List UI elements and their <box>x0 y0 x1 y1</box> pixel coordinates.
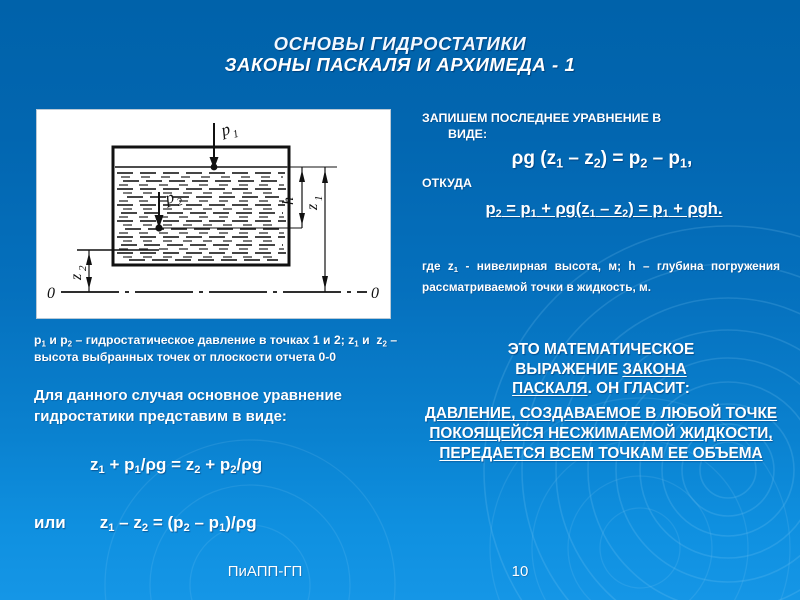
conclusion-law-word: ЗАКОНА <box>622 361 686 378</box>
conclusion-line-3-plain: . ОН ГЛАСИТ: <box>588 380 690 397</box>
slide-canvas: ОСНОВЫ ГИДРОСТАТИКИ ЗАКОНЫ ПАСКАЛЯ И АРХ… <box>0 0 800 600</box>
formula-prefix-ili: или <box>34 513 66 532</box>
right-where-note: где z1 - нивелирная высота, м; h – глуби… <box>422 256 780 297</box>
conclusion-line-1: ЭТО МАТЕМАТИЧЕСКОЕ <box>508 341 695 358</box>
formula-height-difference: илиz1 – z2 = (p2 – p1)/ρg <box>34 513 257 534</box>
formula-bernoulli-form: z1 + p1/ρg = z2 + p2/ρg <box>90 455 262 476</box>
svg-text:z: z <box>304 203 321 211</box>
slide-title: ОСНОВЫ ГИДРОСТАТИКИ ЗАКОНЫ ПАСКАЛЯ И АРХ… <box>0 34 800 75</box>
formula-rho-g-delta-z: ρg (z1 – z2) = p2 – p1, <box>422 148 782 171</box>
pascal-law-statement: ДАВЛЕНИЕ, СОЗДАВАЕМОЕ В ЛЮБОЙ ТОЧКЕ ПОКО… <box>420 404 782 464</box>
right-intro-line-2: ВИДЕ: <box>448 127 487 141</box>
conclusion-pascal-word: ПАСКАЛЯ <box>512 380 587 397</box>
title-line-1: ОСНОВЫ ГИДРОСТАТИКИ <box>0 34 800 55</box>
svg-text:z: z <box>68 273 85 281</box>
svg-text:0: 0 <box>371 285 379 302</box>
left-note-definitions: p1 и p2 – гидростатическое давление в то… <box>34 333 404 365</box>
conclusion-line-2-plain: ВЫРАЖЕНИЕ <box>515 361 622 378</box>
label-otkuda: ОТКУДА <box>422 176 472 190</box>
hydrostatics-vessel-diagram: p 1 p 2 h <box>37 110 390 318</box>
footer-page-number: 10 <box>460 563 580 580</box>
conclusion-heading: ЭТО МАТЕМАТИЧЕСКОЕ ВЫРАЖЕНИЕ ЗАКОНА ПАСК… <box>420 340 782 399</box>
left-body-text: Для данного случая основное уравнение ги… <box>34 385 414 428</box>
right-intro-text: ЗАПИШЕМ ПОСЛЕДНЕЕ УРАВНЕНИЕ В ВИДЕ: <box>422 110 778 143</box>
right-intro-line-1: ЗАПИШЕМ ПОСЛЕДНЕЕ УРАВНЕНИЕ В <box>422 111 661 125</box>
formula-pascal-pressure: p2 = p1 + ρg(z1 – z2) = p1 + ρgh. <box>422 200 786 220</box>
title-line-2: ЗАКОНЫ ПАСКАЛЯ И АРХИМЕДА - 1 <box>0 55 800 76</box>
svg-text:2: 2 <box>77 265 89 271</box>
svg-text:0: 0 <box>47 285 55 302</box>
footer-course-label: ПиАПП-ГП <box>0 563 530 580</box>
svg-text:1: 1 <box>313 196 325 202</box>
svg-text:h: h <box>280 197 297 205</box>
